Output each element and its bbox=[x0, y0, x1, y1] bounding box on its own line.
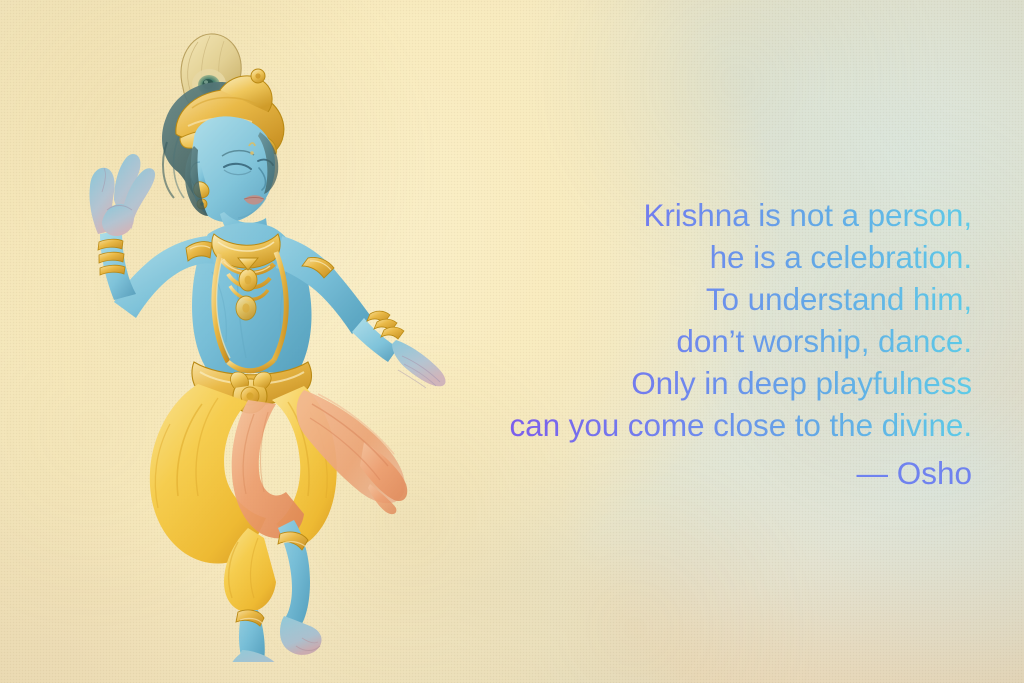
quote-attribution: — Osho bbox=[412, 452, 972, 494]
quote-line-2: he is a celebration. bbox=[412, 236, 972, 278]
quote-text-block: Krishna is not a person, he is a celebra… bbox=[412, 194, 972, 494]
krishna-illustration bbox=[52, 22, 472, 662]
quote-line-5: Only in deep playfulness bbox=[412, 362, 972, 404]
quote-line-1: Krishna is not a person, bbox=[412, 194, 972, 236]
gold-bangles-left bbox=[98, 239, 125, 275]
quote-line-4: don’t worship, dance. bbox=[412, 320, 972, 362]
left-hand-mudra bbox=[89, 154, 155, 236]
quote-image-canvas: Krishna is not a person, he is a celebra… bbox=[0, 0, 1024, 683]
quote-line-3: To understand him, bbox=[412, 278, 972, 320]
quote-line-6: can you come close to the divine. bbox=[412, 404, 972, 446]
